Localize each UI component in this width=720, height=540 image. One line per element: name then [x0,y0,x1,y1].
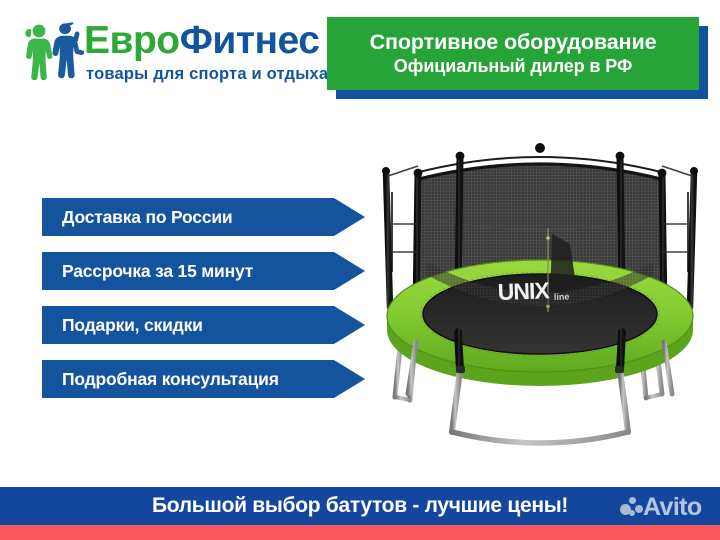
feature-banner-delivery[interactable]: Доставка по России [42,198,365,236]
logo-wordmark: ЕвроФитнес [84,18,324,64]
bottom-red-strip [0,525,720,540]
svg-text:UNIX: UNIX [497,277,550,305]
avito-dots-icon [620,496,642,518]
avito-wordmark: Avito [643,495,702,520]
athletes-icon [22,22,84,80]
feature-banner-consultation[interactable]: Подробная консультация [42,360,365,398]
bottom-slogan-bar: Большой выбор батутов - лучшие цены! [0,487,720,525]
header-banner-line1: Спортивное оборудование [370,29,657,55]
logo-word-green: Евро [84,19,180,62]
feature-banner-label: Подробная консультация [62,369,279,390]
feature-banner-label: Рассрочка за 15 минут [62,261,253,282]
header-banner-line2: Официальный дилер в РФ [394,55,632,78]
logo-tagline: товары для спорта и отдыха [86,64,326,84]
trampoline-product-image: UNIX line [372,132,708,462]
brand-logo[interactable]: ЕвроФитнес товары для спорта и отдыха [22,20,322,88]
header-banner: Спортивное оборудование Официальный диле… [327,17,699,90]
feature-banner-label: Подарки, скидки [62,315,203,336]
svg-text:line: line [554,291,570,302]
bottom-slogan-text: Большой выбор батутов - лучшие цены! [152,494,568,518]
feature-banner-label: Доставка по России [62,207,233,228]
logo-word-blue: Фитнес [180,19,320,62]
feature-banner-installment[interactable]: Рассрочка за 15 минут [42,252,365,290]
feature-banner-gifts[interactable]: Подарки, скидки [42,306,365,344]
avito-watermark: Avito [620,492,715,522]
advertisement-page: ЕвроФитнес товары для спорта и отдыха Сп… [0,0,720,540]
